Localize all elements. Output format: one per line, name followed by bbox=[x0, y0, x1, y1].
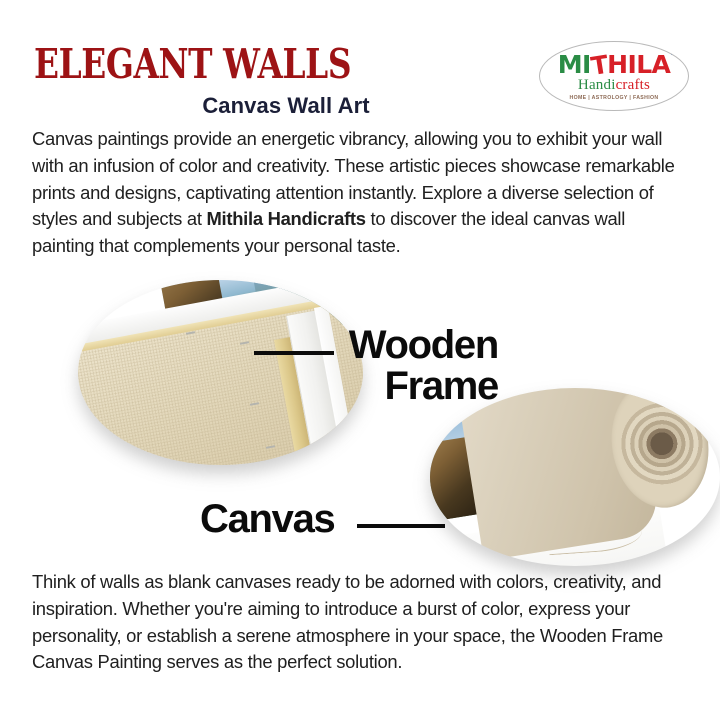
callout-wooden-frame-line2: Frame bbox=[330, 366, 498, 407]
logo-subword-red: crafts bbox=[616, 77, 651, 93]
callout-wooden-frame-line1: Wooden bbox=[330, 325, 498, 366]
brand-mention: Mithila Handicrafts bbox=[207, 208, 366, 229]
closing-paragraph: Think of walls as blank canvases ready t… bbox=[32, 569, 704, 676]
page-title: ELEGANT WALLS bbox=[34, 44, 351, 85]
wooden-frame-photo-shadow bbox=[78, 280, 363, 465]
logo-word-t: T bbox=[589, 51, 609, 78]
callout-wooden-frame: Wooden Frame bbox=[330, 325, 498, 407]
callout-canvas: Canvas bbox=[200, 499, 366, 540]
leader-line-wooden-frame bbox=[254, 351, 334, 355]
leader-line-canvas bbox=[357, 524, 445, 528]
logo-wordmark: MITHILATM bbox=[558, 52, 671, 77]
logo-word-red: HILA bbox=[607, 50, 670, 79]
intro-paragraph: Canvas paintings provide an energetic vi… bbox=[32, 126, 692, 260]
mithila-handicrafts-logo: MITHILATM Handicrafts HOME | ASTROLOGY |… bbox=[539, 41, 689, 111]
trademark-icon: TM bbox=[670, 50, 682, 57]
canvas-roll-photo-shadow bbox=[430, 388, 720, 566]
logo-tagline: HOME | ASTROLOGY | FASHION bbox=[570, 95, 659, 101]
infographic-page: ELEGANT WALLS Canvas Wall Art MITHILATM … bbox=[0, 0, 720, 720]
logo-word-green: MI bbox=[558, 50, 591, 79]
logo-subword: Handicrafts bbox=[578, 78, 650, 94]
